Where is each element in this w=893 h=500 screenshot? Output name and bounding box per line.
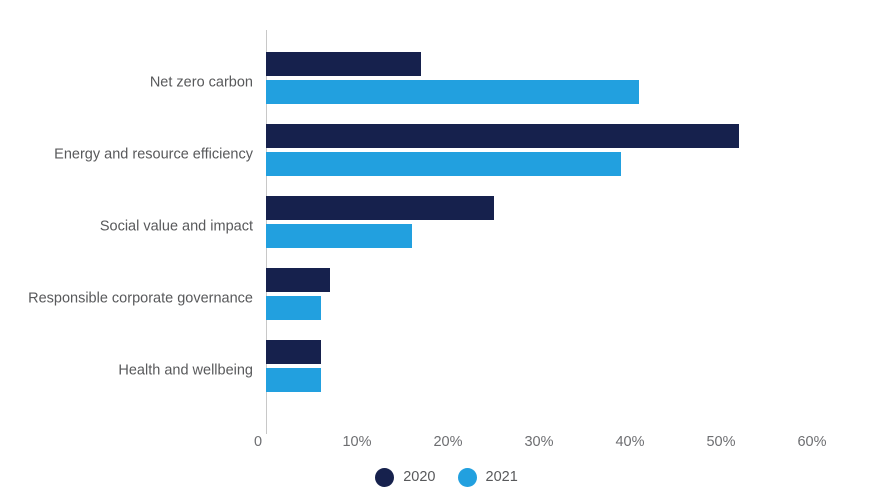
plot-area: Net zero carbonEnergy and resource effic… xyxy=(0,0,893,500)
x-tick-label: 30% xyxy=(524,434,553,450)
category-label: Responsible corporate governance xyxy=(0,290,253,307)
x-tick-label: 0 xyxy=(254,434,262,450)
category-label: Health and wellbeing xyxy=(0,362,253,379)
bar-2020-social-value-and-impact xyxy=(266,196,494,220)
category-row: Net zero carbon xyxy=(0,47,893,119)
legend-item-2020[interactable]: 2020 xyxy=(375,468,435,487)
legend-circle-icon xyxy=(375,468,394,487)
bar-2020-net-zero-carbon xyxy=(266,52,421,76)
bar-2021-net-zero-carbon xyxy=(266,80,639,104)
bar-2021-social-value-and-impact xyxy=(266,224,412,248)
category-row: Health and wellbeing xyxy=(0,335,893,407)
x-axis: 010%20%30%40%50%60% xyxy=(0,434,893,458)
x-tick-label: 50% xyxy=(706,434,735,450)
bar-chart: Net zero carbonEnergy and resource effic… xyxy=(0,0,893,500)
bar-2021-health-and-wellbeing xyxy=(266,368,321,392)
bar-2020-responsible-corporate-governance xyxy=(266,268,330,292)
category-row: Energy and resource efficiency xyxy=(0,119,893,191)
bar-2020-health-and-wellbeing xyxy=(266,340,321,364)
category-row: Responsible corporate governance xyxy=(0,263,893,335)
x-tick-label: 10% xyxy=(342,434,371,450)
x-tick-label: 20% xyxy=(433,434,462,450)
legend-label: 2020 xyxy=(403,470,435,485)
legend-label: 2021 xyxy=(486,470,518,485)
category-label: Net zero carbon xyxy=(0,74,253,91)
x-tick-label: 40% xyxy=(615,434,644,450)
legend-circle-icon xyxy=(458,468,477,487)
x-tick-label: 60% xyxy=(797,434,826,450)
category-row: Social value and impact xyxy=(0,191,893,263)
category-label: Energy and resource efficiency xyxy=(0,146,253,163)
category-label: Social value and impact xyxy=(0,218,253,235)
bar-2020-energy-and-resource-efficiency xyxy=(266,124,739,148)
bar-2021-energy-and-resource-efficiency xyxy=(266,152,621,176)
bar-2021-responsible-corporate-governance xyxy=(266,296,321,320)
legend-item-2021[interactable]: 2021 xyxy=(458,468,518,487)
chart-legend: 20202021 xyxy=(0,468,893,487)
